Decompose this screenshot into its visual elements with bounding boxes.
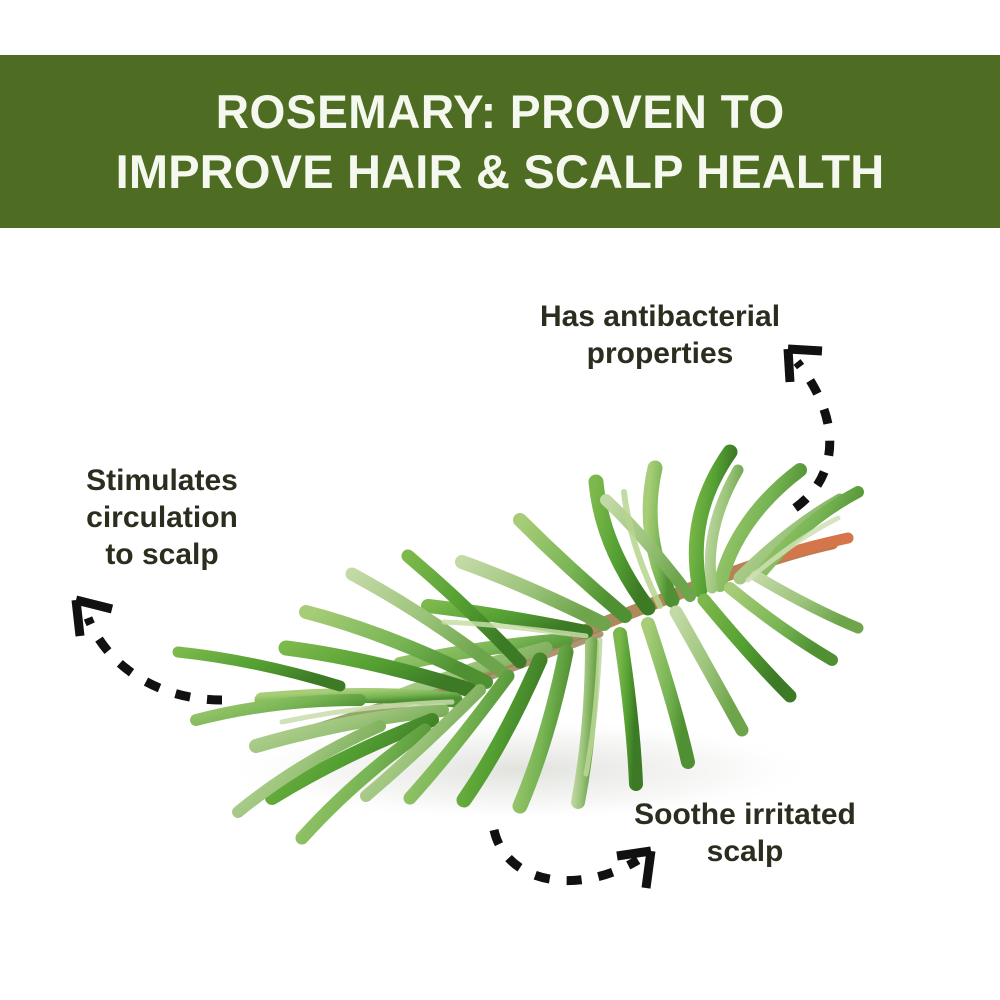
annotation-antibacterial: Has antibacterial properties (470, 298, 850, 372)
annotation-stimulates-circulation: Stimulates circulation to scalp (42, 462, 282, 573)
arrow-stimulates (76, 600, 222, 700)
annotation-soothe-irritated-scalp: Soothe irritated scalp (565, 796, 925, 870)
infographic-page: ROSEMARY: PROVEN TO IMPROVE HAIR & SCALP… (0, 0, 1000, 1000)
arrow-antibacterial (788, 349, 830, 508)
